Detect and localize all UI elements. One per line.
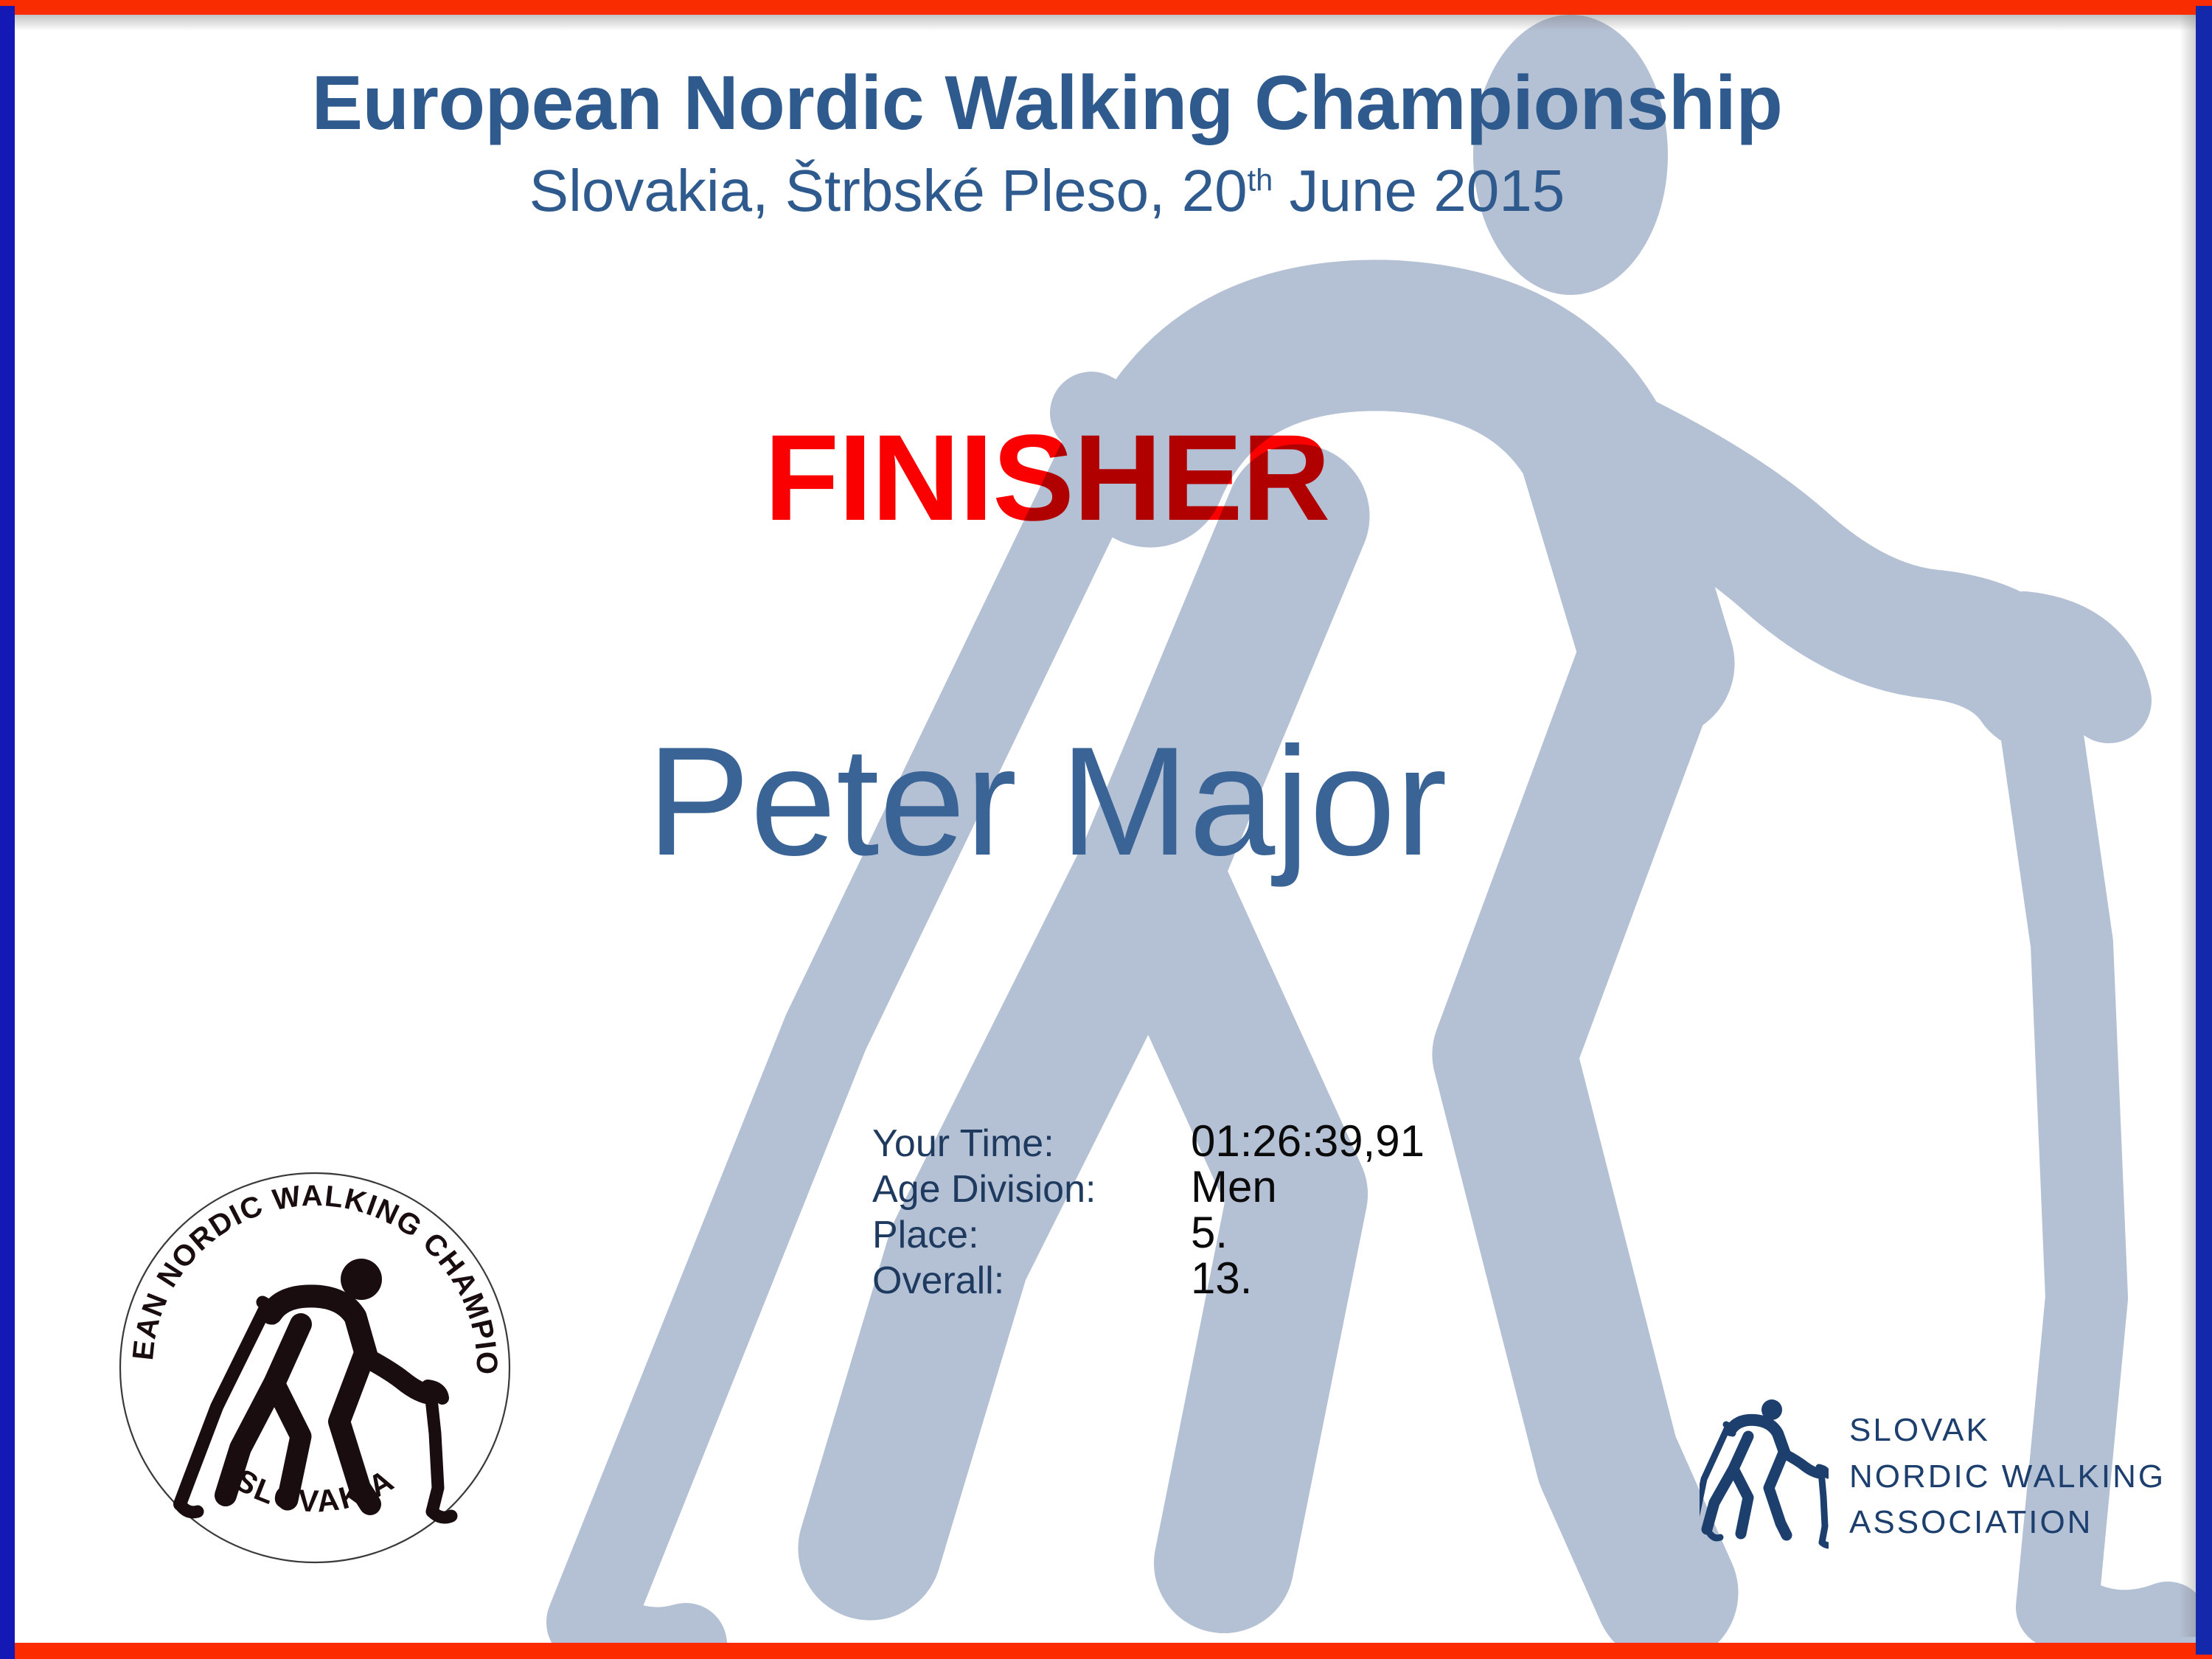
result-value-overall: 13. — [1191, 1253, 1252, 1304]
border-bar-left — [0, 6, 15, 1659]
results-block: Your Time: 01:26:39,91 Age Division: Men… — [872, 1116, 1425, 1298]
result-row: Place: 5. — [872, 1207, 1425, 1253]
border-bar-bottom — [0, 1643, 2212, 1659]
association-logo-text: SLOVAK NORDIC WALKING ASSOCIATION — [1849, 1408, 2166, 1545]
border-bar-top — [0, 0, 2212, 15]
result-row: Age Division: Men — [872, 1161, 1425, 1207]
subtitle-month-year: June 2015 — [1273, 158, 1565, 223]
subtitle-place-day: Slovakia, Štrbské Pleso, 20 — [529, 158, 1248, 223]
result-value-place: 5. — [1191, 1207, 1228, 1258]
result-value-your-time: 01:26:39,91 — [1191, 1116, 1425, 1166]
certificate-page: European Nordic Walking Championship Slo… — [0, 0, 2212, 1659]
association-line-1: SLOVAK — [1849, 1408, 2166, 1453]
association-line-2: NORDIC WALKING — [1849, 1454, 2166, 1500]
event-title: European Nordic Walking Championship — [15, 63, 2079, 144]
result-row: Overall: 13. — [872, 1253, 1425, 1298]
result-label-place: Place: — [872, 1213, 1191, 1257]
association-line-3: ASSOCIATION — [1849, 1500, 2166, 1545]
result-label-age-division: Age Division: — [872, 1167, 1191, 1211]
top-shadow — [15, 15, 2196, 31]
association-logo: SLOVAK NORDIC WALKING ASSOCIATION — [1700, 1392, 2112, 1562]
result-label-your-time: Your Time: — [872, 1121, 1191, 1166]
subtitle-ordinal-suffix: th — [1248, 163, 1273, 198]
result-value-age-division: Men — [1191, 1161, 1277, 1212]
header-block: European Nordic Walking Championship Slo… — [15, 63, 2079, 222]
athlete-name: Peter Major — [15, 724, 2079, 879]
nordic-walker-icon — [1700, 1392, 1829, 1562]
result-row: Your Time: 01:26:39,91 — [872, 1116, 1425, 1161]
event-circular-logo: EUROPEAN NORDIC WALKING CHAMPIONSHIP SLO… — [118, 1171, 512, 1565]
right-shadow — [2180, 15, 2196, 1637]
award-label: FINISHER — [15, 417, 2079, 540]
border-bar-right — [2196, 6, 2212, 1655]
result-label-overall: Overall: — [872, 1259, 1191, 1303]
event-subtitle: Slovakia, Štrbské Pleso, 20th June 2015 — [15, 160, 2079, 222]
